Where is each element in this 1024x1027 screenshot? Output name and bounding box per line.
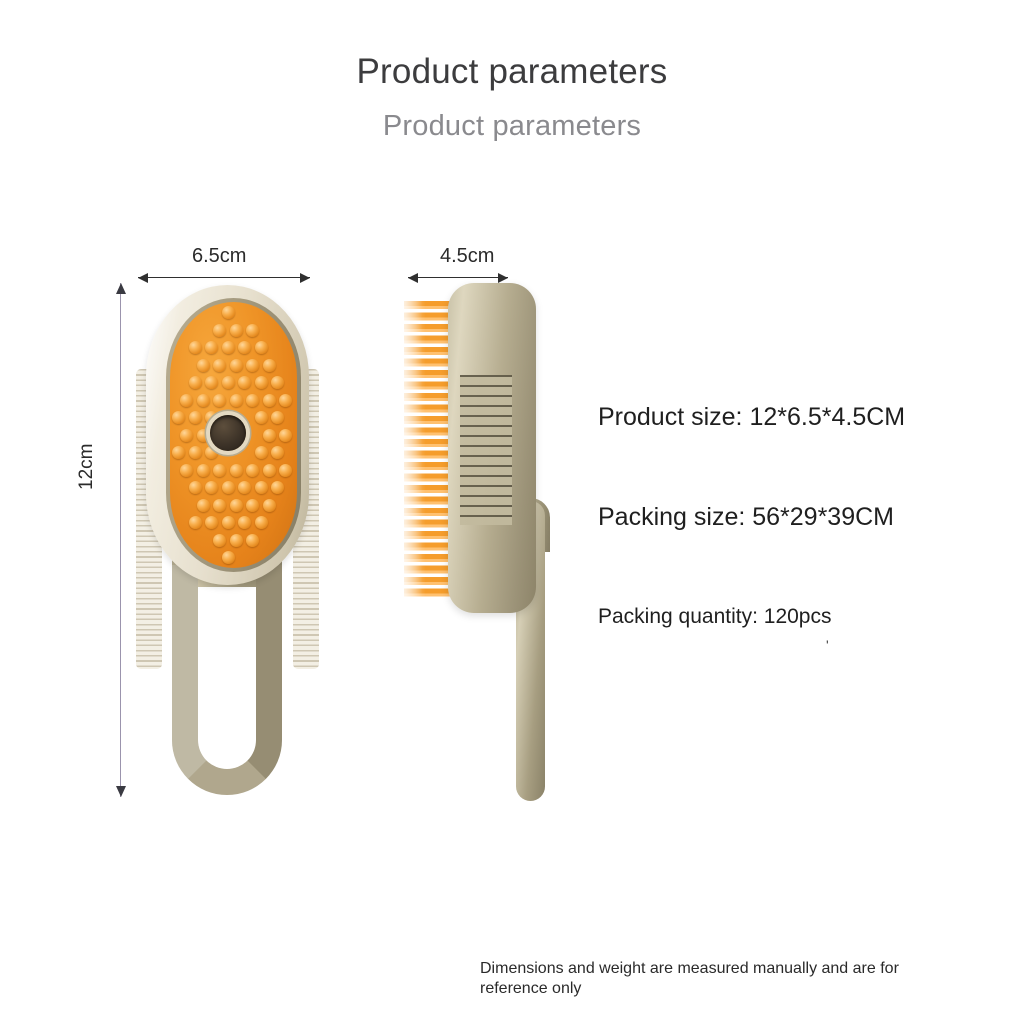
massage-nub	[189, 446, 202, 459]
massage-nub	[205, 376, 218, 389]
massage-nub	[172, 446, 185, 459]
massage-nub	[180, 464, 193, 477]
massage-nub	[255, 481, 268, 494]
massage-nub	[213, 324, 226, 337]
page-title: Product parameters	[0, 52, 1024, 92]
massage-nub	[197, 359, 210, 372]
massage-nub	[246, 534, 259, 547]
massage-nub	[197, 394, 210, 407]
front-handle-loop	[172, 565, 282, 795]
massage-nub	[230, 499, 243, 512]
massage-nub	[255, 341, 268, 354]
massage-nub	[172, 411, 185, 424]
massage-nub	[279, 429, 292, 442]
massage-nub	[205, 341, 218, 354]
massage-nub	[255, 376, 268, 389]
massage-nub	[222, 481, 235, 494]
massage-nub	[189, 341, 202, 354]
massage-nub	[189, 516, 202, 529]
spec-packing-size: Packing size: 56*29*39CM	[598, 503, 894, 532]
massage-nub	[255, 516, 268, 529]
massage-nub	[263, 464, 276, 477]
arrow-head-top-icon	[116, 283, 126, 294]
massage-nub	[213, 394, 226, 407]
massage-nub	[279, 394, 292, 407]
side-bristles	[404, 301, 452, 599]
massage-nub	[271, 411, 284, 424]
arrow-head-right-icon	[300, 273, 310, 283]
arrow-head-left-icon	[138, 273, 148, 283]
massage-nub	[213, 464, 226, 477]
massage-nub	[205, 516, 218, 529]
massage-nub	[222, 516, 235, 529]
massage-nub	[263, 359, 276, 372]
steam-vent-icon	[210, 415, 246, 451]
arrow-line	[120, 283, 121, 797]
dimension-arrow-front-width	[138, 272, 310, 283]
page-subtitle: Product parameters	[0, 110, 1024, 143]
massage-nub	[238, 516, 251, 529]
massage-nub	[205, 446, 218, 459]
dimension-arrow-side-width	[408, 272, 508, 283]
massage-nub	[279, 464, 292, 477]
massage-nub	[263, 499, 276, 512]
massage-nub	[246, 464, 259, 477]
massage-nub	[246, 499, 259, 512]
massage-nub	[205, 481, 218, 494]
massage-nub	[197, 499, 210, 512]
arrow-head-bottom-icon	[116, 786, 126, 797]
massage-nub	[189, 376, 202, 389]
massage-nub	[271, 376, 284, 389]
massage-nub	[213, 534, 226, 547]
massage-nub	[222, 341, 235, 354]
massage-nub	[255, 411, 268, 424]
side-body-shell	[448, 283, 536, 613]
massage-nub	[246, 324, 259, 337]
arrow-head-right-icon	[498, 273, 508, 283]
massage-nub	[230, 394, 243, 407]
dimension-label-side-width: 4.5cm	[440, 245, 494, 268]
massage-nub	[230, 359, 243, 372]
massage-nub	[197, 429, 210, 442]
massage-nub	[222, 551, 235, 564]
spec-packing-quantity: Packing quantity: 120pcs	[598, 605, 831, 629]
massage-nub	[213, 359, 226, 372]
stray-mark: '	[826, 637, 829, 653]
massage-nub	[230, 464, 243, 477]
massage-nub	[246, 359, 259, 372]
massage-nub	[271, 446, 284, 459]
massage-nub	[213, 499, 226, 512]
massage-nub	[230, 324, 243, 337]
arrow-line	[138, 277, 310, 278]
massage-nub	[271, 481, 284, 494]
side-grille-ribs	[460, 375, 512, 525]
massage-nub	[222, 306, 235, 319]
dimension-label-front-width: 6.5cm	[192, 245, 246, 268]
massage-nub	[189, 411, 202, 424]
massage-nub	[263, 429, 276, 442]
massage-nub	[238, 481, 251, 494]
product-parameters-page: Product parameters Product parameters 6.…	[0, 0, 1024, 1027]
spec-product-size: Product size: 12*6.5*4.5CM	[598, 403, 905, 432]
front-outer-shell	[146, 285, 309, 585]
product-front-view	[140, 285, 315, 800]
product-side-view	[404, 283, 584, 803]
massage-nub	[180, 394, 193, 407]
massage-nub	[189, 481, 202, 494]
massage-nub	[230, 534, 243, 547]
massage-nub	[246, 394, 259, 407]
massage-nub	[197, 464, 210, 477]
footnote-disclaimer: Dimensions and weight are measured manua…	[480, 959, 950, 1000]
massage-nub	[180, 429, 193, 442]
massage-nub	[255, 446, 268, 459]
massage-nub	[238, 376, 251, 389]
arrow-head-left-icon	[408, 273, 418, 283]
dimension-label-front-height: 12cm	[76, 444, 98, 490]
arrow-line	[408, 277, 508, 278]
massage-nub	[238, 341, 251, 354]
massage-nub	[263, 394, 276, 407]
massage-nub	[222, 376, 235, 389]
dimension-arrow-front-height	[115, 283, 126, 797]
